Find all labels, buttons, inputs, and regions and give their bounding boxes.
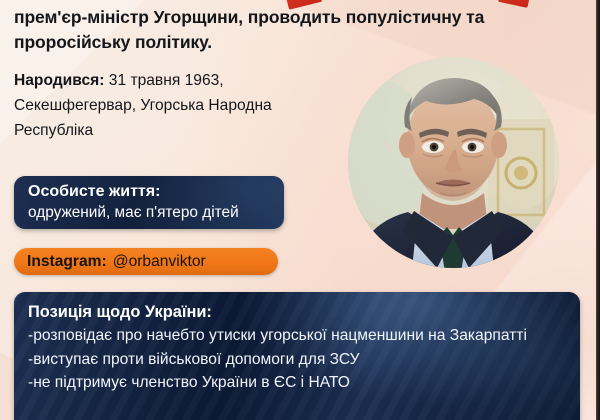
position-item: -розповідає про начебто утиски угорської… [28, 324, 566, 348]
portrait-illustration [348, 57, 559, 268]
instagram-handle[interactable]: @orbanviktor [113, 253, 206, 271]
instagram-label: Instagram: [27, 253, 107, 271]
position-title: Позиція щодо України: [28, 301, 566, 324]
born-info: Народився: 31 травня 1963, Секешфегервар… [14, 68, 334, 143]
lead-paragraph: прем'єр-міністр Угорщини, проводить попу… [14, 5, 554, 55]
infographic-slide: прем'єр-міністр Угорщини, проводить попу… [0, 0, 600, 420]
position-item: -виступає проти військової допомоги для … [28, 348, 566, 372]
personal-life-text: одружений, має п'ятеро дітей [28, 202, 272, 223]
personal-life-title: Особисте життя: [28, 182, 272, 202]
instagram-pill[interactable]: Instagram: @orbanviktor [14, 248, 278, 275]
position-on-ukraine-card: Позиція щодо України: -розповідає про на… [14, 292, 580, 420]
right-edge-border [596, 0, 600, 420]
portrait-photo [348, 57, 559, 268]
personal-life-card: Особисте життя: одружений, має п'ятеро д… [14, 176, 284, 229]
born-label: Народився: [14, 72, 104, 89]
position-item: -не підтримує членство України в ЄС і НА… [28, 371, 566, 395]
